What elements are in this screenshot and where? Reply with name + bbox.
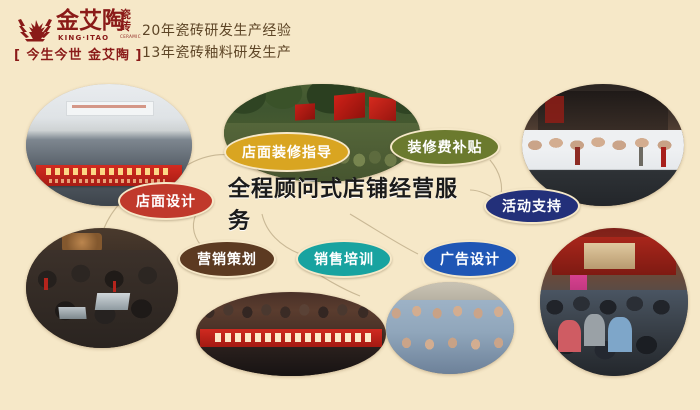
photo-store-crowd: [540, 228, 688, 376]
pill-label: 销售培训: [314, 249, 374, 269]
pill-label: 活动支持: [502, 196, 562, 216]
promo-banner: 金艾陶 KING·ITAO 瓷砖 CERAMIC [ 今生今世 金艾陶 ] 20…: [0, 0, 700, 410]
brand-suffix-cn: 瓷砖: [120, 9, 136, 33]
tagline-glaze: 13年瓷砖釉料研发生产: [142, 42, 291, 62]
photo-dealers-laptops: [26, 228, 178, 348]
brand-suffix-latin: CERAMIC: [120, 34, 141, 39]
pill-label: 店面设计: [136, 191, 196, 211]
header: 金艾陶 KING·ITAO 瓷砖 CERAMIC [ 今生今世 金艾陶 ] 20…: [0, 0, 700, 78]
pill-activity-support[interactable]: 活动支持: [484, 188, 580, 224]
pill-marketing-planning[interactable]: 营销策划: [178, 240, 276, 278]
pill-label: 店面装修指导: [242, 142, 332, 162]
pill-sales-training[interactable]: 销售培训: [296, 240, 392, 278]
pill-label: 广告设计: [440, 249, 500, 269]
pill-label: 装修费补贴: [408, 137, 483, 157]
pill-store-design[interactable]: 店面设计: [118, 182, 214, 220]
deer-antler-icon: [14, 12, 56, 42]
photo-terminal-training: [196, 292, 386, 376]
pill-decoration-subsidy[interactable]: 装修费补贴: [390, 128, 500, 166]
photo-staff-group: [386, 282, 514, 374]
brand-name-cn: 金艾陶: [56, 8, 125, 34]
pill-label: 营销策划: [197, 249, 257, 269]
pill-store-decoration-guidance[interactable]: 店面装修指导: [224, 132, 350, 172]
photo-executives-visit: [522, 84, 684, 206]
tagline-experience: 20年瓷砖研发生产经验: [142, 20, 291, 40]
brand-logo[interactable]: 金艾陶 KING·ITAO 瓷砖 CERAMIC [ 今生今世 金艾陶 ]: [8, 8, 138, 70]
pill-advertising-design[interactable]: 广告设计: [422, 240, 518, 278]
page-title: 全程顾问式店铺经营服务: [228, 188, 478, 218]
brand-name-latin: KING·ITAO: [58, 34, 109, 42]
brand-slogan: [ 今生今世 金艾陶 ]: [14, 44, 142, 63]
